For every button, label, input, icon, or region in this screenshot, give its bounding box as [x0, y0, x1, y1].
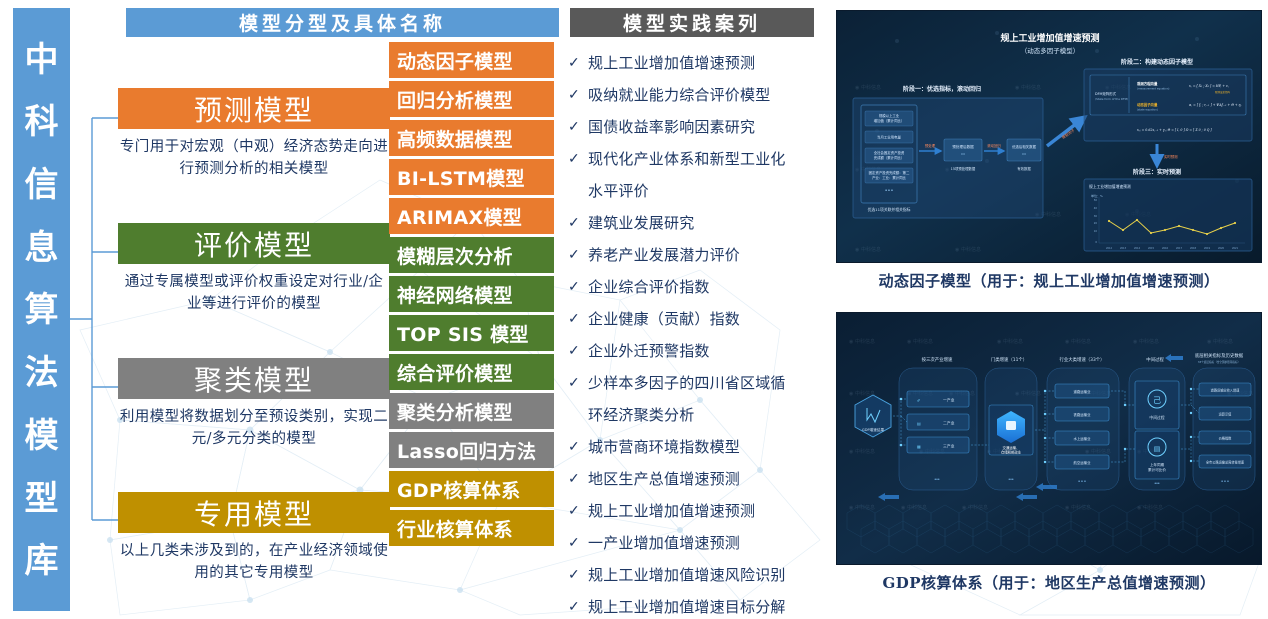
- case-text: 水平评价: [588, 176, 833, 206]
- svg-text:阶段二：构建动态因子模型: 阶段二：构建动态因子模型: [1121, 58, 1193, 66]
- list-item: ✓企业综合评价指数: [568, 272, 833, 302]
- svg-text:2016: 2016: [1162, 247, 1169, 250]
- list-item: ✓现代化产业体系和新型工业化: [568, 144, 833, 174]
- svg-text:优选11项关联并相关指标: 优选11项关联并相关指标: [868, 207, 911, 212]
- category-block-forecast[interactable]: 预测模型 专门用于对宏观（中观）经济态势走向进行预测分析的相关模型: [118, 88, 390, 180]
- check-icon: ✓: [568, 336, 588, 366]
- svg-text:2019: 2019: [1204, 247, 1211, 250]
- svg-text:道路运输业: 道路运输业: [1074, 389, 1092, 394]
- model-box[interactable]: ARIMAX模型: [389, 198, 554, 234]
- case-text: 一产业增加值增速预测: [588, 528, 833, 558]
- svg-text:2020: 2020: [1218, 247, 1225, 250]
- svg-text:▤: ▤: [917, 421, 921, 426]
- category-block-evaluation[interactable]: 评价模型 通过专属模型或评价权重设定对行业/企业等进行评价的模型: [118, 223, 390, 315]
- svg-text:•••: •••: [1221, 479, 1230, 485]
- check-icon: ✓: [568, 80, 588, 110]
- example-panel-dfm: ◉ 中科信息◉ 中科信息 ◉ 中科信息◉ 中科信息 ◉ 中科信息 ◉ 中科信息◉…: [836, 10, 1262, 291]
- model-box[interactable]: 模糊层次分析: [389, 237, 554, 273]
- check-icon: ✓: [568, 528, 588, 558]
- svg-text:α, = [ f, ; r,₋₁ ] + ΨΔf,₋₁ +: α, = [ f, ; r,₋₁ ] + ΨΔf,₋₁ + Θ + η,: [1189, 103, 1241, 107]
- case-text: 国债收益率影响因素研究: [588, 112, 833, 142]
- category-title: 评价模型: [118, 223, 390, 264]
- svg-text:•••: •••: [1154, 481, 1160, 487]
- svg-text:全市公路运输总周转量增速: 全市公路运输总周转量增速: [1206, 460, 1245, 465]
- svg-text:2014: 2014: [1134, 247, 1141, 250]
- dfm-slide-graphic: ◉ 中科信息◉ 中科信息 ◉ 中科信息◉ 中科信息 ◉ 中科信息 ◉ 中科信息◉…: [837, 11, 1262, 263]
- list-item: ✓城市营商环境指数模型: [568, 432, 833, 462]
- svg-text:2017: 2017: [1176, 247, 1183, 250]
- svg-text:◉ 中科信息: ◉ 中科信息: [849, 338, 875, 345]
- svg-text:2018: 2018: [1190, 247, 1197, 250]
- svg-text:x,₍ = 0.62x,₋₁ + γ,₍ Θ = [ I: x,₍ = 0.62x,₋₁ + γ,₍ Θ = [ I, 0 ] Ω = [ …: [1137, 128, 1212, 132]
- svg-text:水上运输业: 水上运输业: [1074, 436, 1092, 441]
- svg-text:◉ 中科信息: ◉ 中科信息: [1207, 338, 1233, 345]
- check-icon: ✓: [568, 208, 588, 238]
- list-item: ✓养老产业发展潜力评价: [568, 240, 833, 270]
- category-block-special[interactable]: 专用模型 以上几类未涉及到的，在产业经济领域使用的其它专用模型: [118, 492, 390, 584]
- category-title: 专用模型: [118, 492, 390, 533]
- case-text: 企业外迁预警指数: [588, 336, 833, 366]
- svg-text:预处理: 预处理: [925, 143, 936, 148]
- svg-text:30: 30: [1094, 214, 1098, 218]
- svg-text:◉ 中科信息: ◉ 中科信息: [1133, 338, 1159, 345]
- list-item: ✓地区生产总值增速预测: [568, 464, 833, 494]
- model-box[interactable]: Lasso回归方法: [389, 432, 554, 468]
- category-title: 预测模型: [118, 88, 390, 129]
- svg-text:2015: 2015: [1148, 247, 1155, 250]
- list-item: ✓规上工业增加值增速风险识别: [568, 560, 833, 590]
- svg-text:中间过程: 中间过程: [1149, 415, 1164, 420]
- case-text: 规上工业增加值增速预测: [588, 496, 833, 526]
- svg-text:三产业: 三产业: [943, 444, 955, 449]
- svg-text:增加值（累计同比）: 增加值（累计同比）: [874, 118, 905, 123]
- svg-text:交通运输、: 交通运输、: [1003, 445, 1020, 450]
- list-item: ✓国债收益率影响因素研究: [568, 112, 833, 142]
- svg-text:单位：%: 单位：%: [1091, 193, 1103, 198]
- practice-case-list: ✓规上工业增加值增速预测 ✓吸纳就业能力综合评价模型 ✓国债收益率影响因素研究 …: [568, 48, 833, 619]
- svg-text:•••: •••: [1078, 479, 1087, 485]
- check-icon: ✓: [568, 432, 588, 462]
- case-text: 现代化产业体系和新型工业化: [588, 144, 833, 174]
- list-item: ✓企业健康（贡献）指数: [568, 304, 833, 334]
- svg-text:10: 10: [1094, 229, 1098, 233]
- svg-text:40: 40: [1094, 206, 1098, 210]
- check-icon: ✓: [568, 464, 588, 494]
- svg-text:◉ 中科信息: ◉ 中科信息: [1065, 338, 1091, 345]
- gdp-slide-graphic: ◉ 中科信息◉ 中科信息◉ 中科信息 ◉ 中科信息◉ 中科信息◉ 中科信息 ◉ …: [837, 313, 1262, 565]
- svg-text:阶段一：优选指标，滚动回归: 阶段一：优选指标，滚动回归: [903, 85, 981, 93]
- svg-text:观测误差矩阵: 观测误差矩阵: [1215, 90, 1231, 94]
- svg-text:•••: •••: [934, 477, 940, 483]
- svg-text:✐: ✐: [917, 398, 920, 403]
- model-box[interactable]: 行业核算体系: [389, 510, 554, 546]
- svg-text:◉ 中科信息: ◉ 中科信息: [955, 246, 981, 253]
- svg-text:动态因子向量: 动态因子向量: [1137, 102, 1158, 107]
- list-item: 环经济聚类分析: [568, 400, 833, 430]
- example-panel-gdp: ◉ 中科信息◉ 中科信息◉ 中科信息 ◉ 中科信息◉ 中科信息◉ 中科信息 ◉ …: [836, 312, 1262, 593]
- svg-text:◉ 中科信息: ◉ 中科信息: [1137, 504, 1163, 511]
- svg-text:◉ 中科信息: ◉ 中科信息: [962, 504, 988, 511]
- svg-text:◉ 中科信息: ◉ 中科信息: [849, 448, 875, 455]
- check-icon: ✓: [568, 48, 588, 78]
- sidebar-char: 型: [25, 482, 59, 516]
- case-text: 环经济聚类分析: [588, 400, 833, 430]
- svg-text:▤: ▤: [1154, 446, 1161, 453]
- case-text: 企业健康（贡献）指数: [588, 304, 833, 334]
- svg-text:◉ 中科信息: ◉ 中科信息: [997, 338, 1023, 345]
- svg-text:规上工业增加值增速预测: 规上工业增加值增速预测: [1000, 32, 1099, 44]
- svg-text:运算示值: 运算示值: [1219, 412, 1233, 417]
- category-description: 通过专属模型或评价权重设定对行业/企业等进行评价的模型: [118, 271, 390, 315]
- case-text: 规上工业增加值增速目标分解: [588, 592, 833, 619]
- model-box[interactable]: 综合评价模型: [389, 354, 554, 390]
- slide-screenshot-dfm: ◉ 中科信息◉ 中科信息 ◉ 中科信息◉ 中科信息 ◉ 中科信息 ◉ 中科信息◉…: [836, 10, 1262, 263]
- model-box[interactable]: BI-LSTM模型: [389, 159, 554, 195]
- svg-text:当月工业用电量: 当月工业用电量: [877, 135, 901, 140]
- list-item: ✓规上工业增加值增速预测: [568, 496, 833, 526]
- svg-text:航空运输业: 航空运输业: [1074, 460, 1092, 465]
- list-item: ✓一产业增加值增速预测: [568, 528, 833, 558]
- case-text: 企业综合评价指数: [588, 272, 833, 302]
- model-box[interactable]: GDP核算体系: [389, 471, 554, 507]
- list-item: ✓规上工业增加值增速目标分解: [568, 592, 833, 619]
- check-icon: ✓: [568, 496, 588, 526]
- svg-text:上年同期: 上年同期: [1150, 462, 1165, 467]
- sidebar-char: 库: [25, 544, 59, 578]
- sidebar-char: 信: [25, 168, 59, 202]
- svg-text:规上工业增加值增速预测: 规上工业增加值增速预测: [1089, 184, 1131, 189]
- svg-text:价格指数: 价格指数: [1219, 436, 1233, 441]
- infographic-page: 中 科 信 息 算 法 模 型 库 模型分型及具体名称 模型实践案列 预测模型 …: [0, 0, 1268, 619]
- svg-text:己: 己: [1153, 396, 1161, 405]
- svg-text:2012: 2012: [1106, 247, 1113, 250]
- sidebar-char: 模: [25, 419, 59, 453]
- svg-text:全社会固定资产投资: 全社会固定资产投资: [874, 150, 905, 155]
- case-text: 规上工业增加值增速风险识别: [588, 560, 833, 590]
- model-name-list: 动态因子模型 回归分析模型 高频数据模型 BI-LSTM模型 ARIMAX模型 …: [389, 42, 554, 549]
- svg-text:有效数据: 有效数据: [1017, 166, 1031, 171]
- svg-text:◉ 中科信息: ◉ 中科信息: [1015, 84, 1041, 91]
- svg-text:20: 20: [1094, 221, 1098, 225]
- category-title: 聚类模型: [118, 358, 390, 399]
- model-box[interactable]: 神经网络模型: [389, 276, 554, 312]
- svg-text:一产业: 一产业: [943, 398, 955, 403]
- svg-text:阶段三：实时预测: 阶段三：实时预测: [1133, 168, 1181, 176]
- category-description: 专门用于对宏观（中观）经济态势走向进行预测分析的相关模型: [118, 136, 390, 180]
- list-item: ✓建筑业发展研究: [568, 208, 833, 238]
- svg-text:行业大类增速（33个）: 行业大类增速（33个）: [1059, 356, 1104, 363]
- case-text: 养老产业发展潜力评价: [588, 240, 833, 270]
- svg-text:滚动回归: 滚动回归: [987, 143, 1001, 148]
- svg-text:中间过程: 中间过程: [1146, 356, 1164, 363]
- svg-text:仓储和邮政业: 仓储和邮政业: [1001, 450, 1022, 455]
- svg-text:◉ 中科信息: ◉ 中科信息: [855, 246, 881, 253]
- check-icon: ✓: [568, 112, 588, 142]
- check-icon: ✓: [568, 560, 588, 590]
- panel-caption-dfm: 动态因子模型（用于：规上工业增加值增速预测）: [836, 270, 1262, 291]
- sidebar-char: 息: [25, 231, 59, 265]
- model-box[interactable]: 聚类分析模型: [389, 393, 554, 429]
- slide-screenshot-gdp: ◉ 中科信息◉ 中科信息◉ 中科信息 ◉ 中科信息◉ 中科信息◉ 中科信息 ◉ …: [836, 312, 1262, 565]
- list-item: 水平评价: [568, 176, 833, 206]
- svg-text:◉ 中科信息: ◉ 中科信息: [855, 84, 881, 91]
- svg-text:预处理后数据: 预处理后数据: [952, 144, 974, 149]
- case-text: 规上工业增加值增速预测: [588, 48, 833, 78]
- case-text: 地区生产总值增速预测: [588, 464, 833, 494]
- svg-text:•••: •••: [1008, 477, 1014, 483]
- list-item: ✓少样本多因子的四川省区域循: [568, 368, 833, 398]
- case-text: 少样本多因子的四川省区域循: [588, 368, 833, 398]
- svg-text:完成额（累计同比）: 完成额（累计同比）: [874, 155, 905, 160]
- check-icon: ✓: [568, 592, 588, 619]
- svg-text:x, = [ X₁ ; X₂ ] = HF, + ε,: x, = [ X₁ ; X₂ ] = HF, + ε,: [1189, 84, 1229, 88]
- svg-text:道路运输业收入增速: 道路运输业收入增速: [1211, 388, 1240, 393]
- svg-text:底层相关指标及历史数据: 底层相关指标及历史数据: [1195, 352, 1244, 359]
- model-box[interactable]: 高频数据模型: [389, 120, 554, 156]
- svg-text:◉ 中科信息: ◉ 中科信息: [907, 338, 933, 345]
- sidebar-vertical-title: 中 科 信 息 算 法 模 型 库: [13, 8, 70, 611]
- svg-text:固定资产投资完成额：第二: 固定资产投资完成额：第二: [869, 170, 910, 175]
- svg-text:◉ 中科信息: ◉ 中科信息: [849, 504, 875, 511]
- svg-text:铁路运输业: 铁路运输业: [1074, 412, 1092, 417]
- column-header-classification: 模型分型及具体名称: [126, 8, 559, 37]
- sidebar-char: 科: [25, 105, 59, 139]
- svg-text:▦: ▦: [917, 444, 921, 449]
- svg-text:规模以上工业: 规模以上工业: [879, 113, 900, 118]
- svg-text:产业：工业：累计同比: 产业：工业：累计同比: [872, 175, 907, 180]
- svg-text:GDP增速结果: GDP增速结果: [862, 427, 885, 432]
- model-box[interactable]: TOP SIS 模型: [389, 315, 554, 351]
- list-item: ✓规上工业增加值增速预测: [568, 48, 833, 78]
- svg-text:•••: •••: [885, 188, 894, 194]
- svg-text:累计可比价: 累计可比价: [1148, 467, 1166, 472]
- check-icon: ✓: [568, 368, 588, 398]
- svg-text:50: 50: [1094, 198, 1098, 202]
- model-box[interactable]: 动态因子模型: [389, 42, 554, 78]
- category-block-clustering[interactable]: 聚类模型 利用模型将数据划分至预设类别，实现二元/多元分类的模型: [118, 358, 390, 450]
- model-box[interactable]: 回归分析模型: [389, 81, 554, 117]
- list-item: ✓吸纳就业能力综合评价模型: [568, 80, 833, 110]
- svg-text:优选后相关数据: 优选后相关数据: [1012, 144, 1036, 149]
- svg-text:(State form of the DFM): (State form of the DFM): [1095, 97, 1128, 101]
- check-icon: ✓: [568, 304, 588, 334]
- svg-text:（动态多因子模型）: （动态多因子模型）: [1021, 46, 1080, 55]
- category-description: 利用模型将数据划分至预设类别，实现二元/多元分类的模型: [118, 406, 390, 450]
- svg-text:33个底层指标（含全国参照等指标）: 33个底层指标（含全国参照等指标）: [1198, 360, 1240, 364]
- panel-caption-gdp: GDP核算体系（用于：地区生产总值增速预测）: [836, 572, 1262, 593]
- case-text: 建筑业发展研究: [588, 208, 833, 238]
- svg-text:◉ 中科信息: ◉ 中科信息: [901, 504, 927, 511]
- category-description: 以上几类未涉及到的，在产业经济领域使用的其它专用模型: [118, 540, 390, 584]
- sidebar-char: 中: [25, 43, 59, 77]
- svg-text:二产业: 二产业: [943, 421, 955, 426]
- case-text: 城市营商环境指数模型: [588, 432, 833, 462]
- svg-text:实时预测: 实时预测: [1164, 154, 1178, 159]
- check-icon: ✓: [568, 144, 588, 174]
- svg-text:(measurement equation): (measurement equation): [1137, 87, 1169, 91]
- svg-text:2013: 2013: [1120, 247, 1127, 250]
- svg-text:按三次产业增速: 按三次产业增速: [922, 356, 953, 363]
- case-text: 吸纳就业能力综合评价模型: [588, 80, 833, 110]
- svg-text:15项预处理数据: 15项预处理数据: [951, 166, 976, 171]
- svg-text:(state equation): (state equation): [1137, 108, 1158, 112]
- check-icon: ✓: [568, 240, 588, 270]
- svg-text:DFM矩阵形式: DFM矩阵形式: [1095, 91, 1117, 96]
- sidebar-char: 法: [25, 356, 59, 390]
- list-item: ✓企业外迁预警指数: [568, 336, 833, 366]
- svg-text:门类增速（11个）: 门类增速（11个）: [991, 356, 1027, 363]
- check-icon: ✓: [568, 272, 588, 302]
- svg-text:◉ 中科信息: ◉ 中科信息: [1065, 504, 1091, 511]
- svg-text:观测方程向量: 观测方程向量: [1137, 81, 1158, 86]
- svg-text:2021: 2021: [1232, 247, 1239, 250]
- sidebar-char: 算: [25, 293, 59, 327]
- column-header-cases: 模型实践案列: [570, 8, 814, 37]
